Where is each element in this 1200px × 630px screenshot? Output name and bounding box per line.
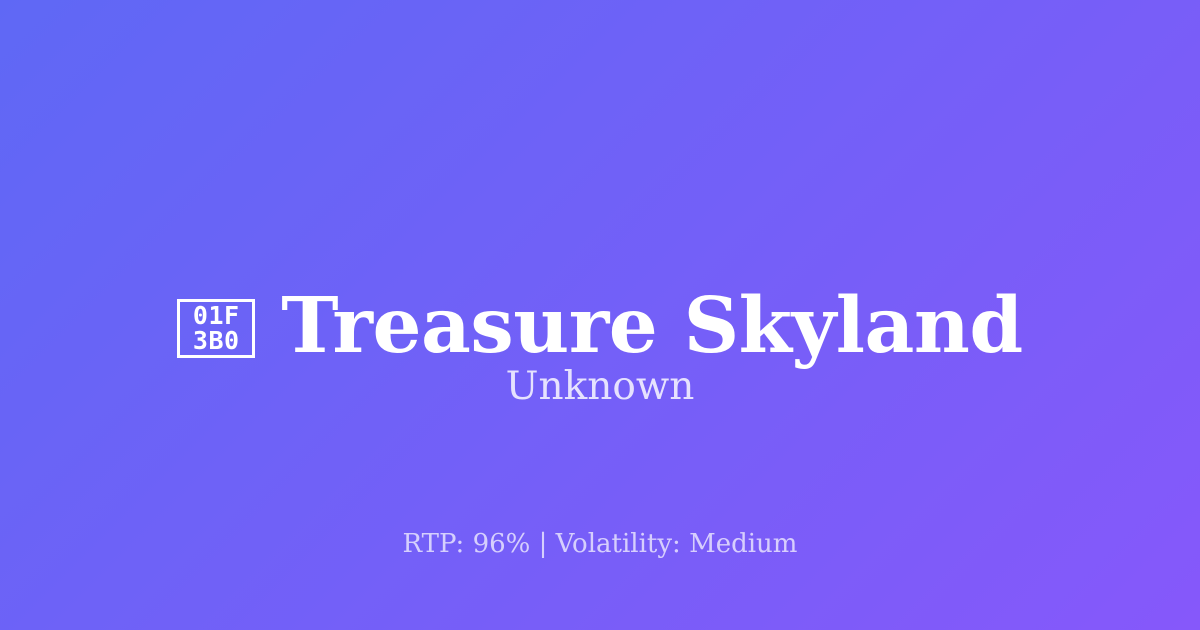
tofu-codepoint-bottom: 3B0	[193, 328, 240, 353]
slot-machine-icon: 01F 3B0	[177, 299, 255, 358]
provider-label: Unknown	[0, 364, 1200, 410]
game-title: Treasure Skyland	[281, 283, 1023, 369]
game-stats-line: RTP: 96% | Volatility: Medium	[0, 528, 1200, 560]
tofu-codepoint-top: 01F	[193, 303, 240, 328]
og-share-card: 01F 3B0 Treasure Skyland Unknown RTP: 96…	[0, 0, 1200, 630]
